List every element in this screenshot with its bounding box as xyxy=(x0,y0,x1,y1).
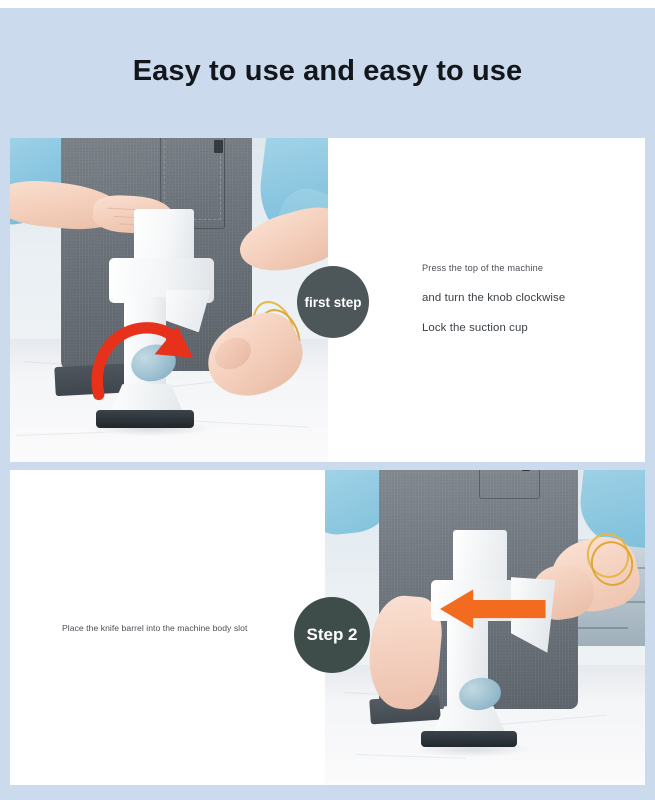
step-1-line-2: and turn the knob clockwise xyxy=(422,292,637,304)
step-1-text-panel: Press the top of the machine and turn th… xyxy=(328,138,645,462)
step-1-photo xyxy=(10,138,328,462)
device-suction-base xyxy=(421,731,517,747)
device-hopper xyxy=(453,530,507,584)
curved-clockwise-arrow-icon xyxy=(90,316,195,410)
apron-pocket xyxy=(479,470,541,499)
straight-left-arrow-icon xyxy=(440,587,546,631)
apron-label-tag xyxy=(522,470,530,471)
step-1-scene xyxy=(10,138,328,462)
apron-label-tag xyxy=(214,140,223,153)
step-1-line-3: Lock the suction cup xyxy=(422,322,637,334)
step-2-photo xyxy=(325,470,645,785)
step-2-badge-label: Step 2 xyxy=(306,625,357,645)
step-2-text-panel: Place the knife barrel into the machine … xyxy=(10,470,325,785)
step-2-instructions: Place the knife barrel into the machine … xyxy=(62,623,312,633)
step-1-line-1: Press the top of the machine xyxy=(422,263,637,273)
step-1-badge-label: first step xyxy=(304,295,361,310)
step-2-line-1: Place the knife barrel into the machine … xyxy=(62,623,312,633)
step-2-scene xyxy=(325,470,645,785)
apron-pocket-stitching xyxy=(164,138,221,220)
step-2-badge: Step 2 xyxy=(294,597,370,673)
infographic-page: Easy to use and easy to use xyxy=(0,0,655,800)
step-1-instructions: Press the top of the machine and turn th… xyxy=(422,263,637,334)
page-title: Easy to use and easy to use xyxy=(0,55,655,88)
step-1-badge: first step xyxy=(297,266,369,338)
device-suction-base xyxy=(96,410,195,428)
